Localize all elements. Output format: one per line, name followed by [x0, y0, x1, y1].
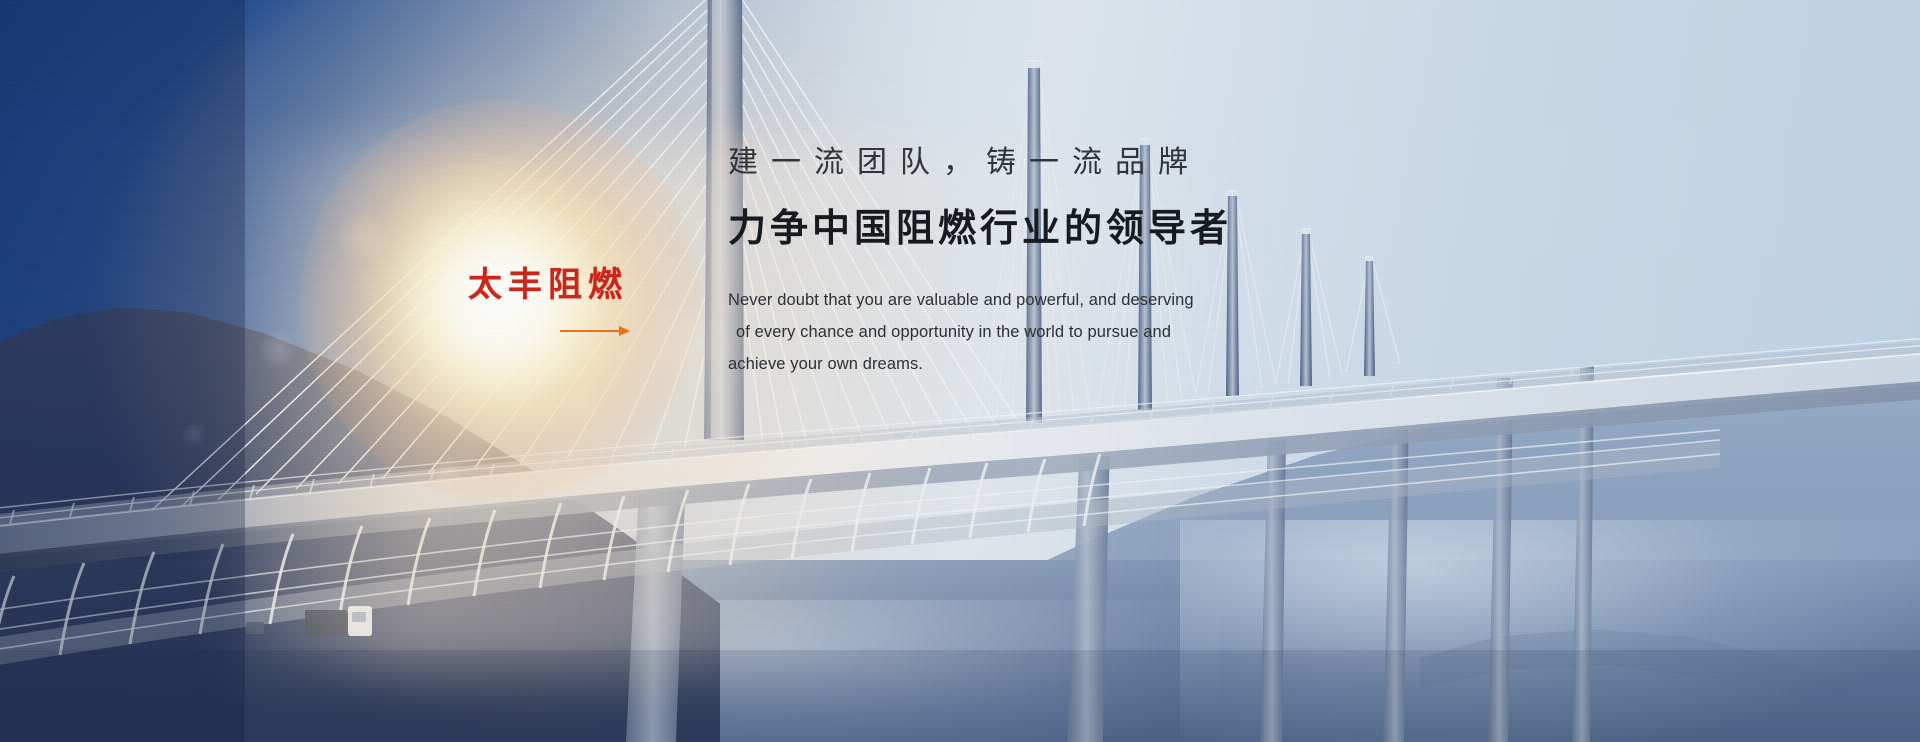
headline-secondary: 力争中国阻燃行业的领导者 [728, 210, 1428, 248]
left-tint-overlay [0, 0, 245, 742]
arrow-right-icon [560, 326, 630, 336]
logo-wordmark: 太丰阻燃 [468, 268, 668, 302]
lens-ghost [258, 330, 298, 370]
hero-subcopy: Never doubt that you are valuable and po… [728, 284, 1428, 380]
hero-copy: 建一流团队，铸一流品牌 力争中国阻燃行业的领导者 Never doubt tha… [728, 148, 1428, 380]
bottom-tint-overlay [0, 650, 1920, 742]
subcopy-line-3: achieve your own dreams. [728, 348, 1428, 380]
headline-primary: 建一流团队，铸一流品牌 [728, 148, 1428, 178]
lens-ghost [558, 380, 606, 428]
arrow-shaft [560, 330, 622, 332]
arrow-head [619, 326, 630, 336]
lens-ghost [335, 210, 391, 266]
subcopy-line-2: of every chance and opportunity in the w… [728, 316, 1428, 348]
brand-logo[interactable]: 太丰阻燃 [468, 268, 668, 336]
hero-banner: 太丰阻燃 建一流团队，铸一流品牌 力争中国阻燃行业的领导者 Never doub… [0, 0, 1920, 742]
lens-ghost [430, 455, 464, 489]
subcopy-line-1: Never doubt that you are valuable and po… [728, 284, 1428, 316]
